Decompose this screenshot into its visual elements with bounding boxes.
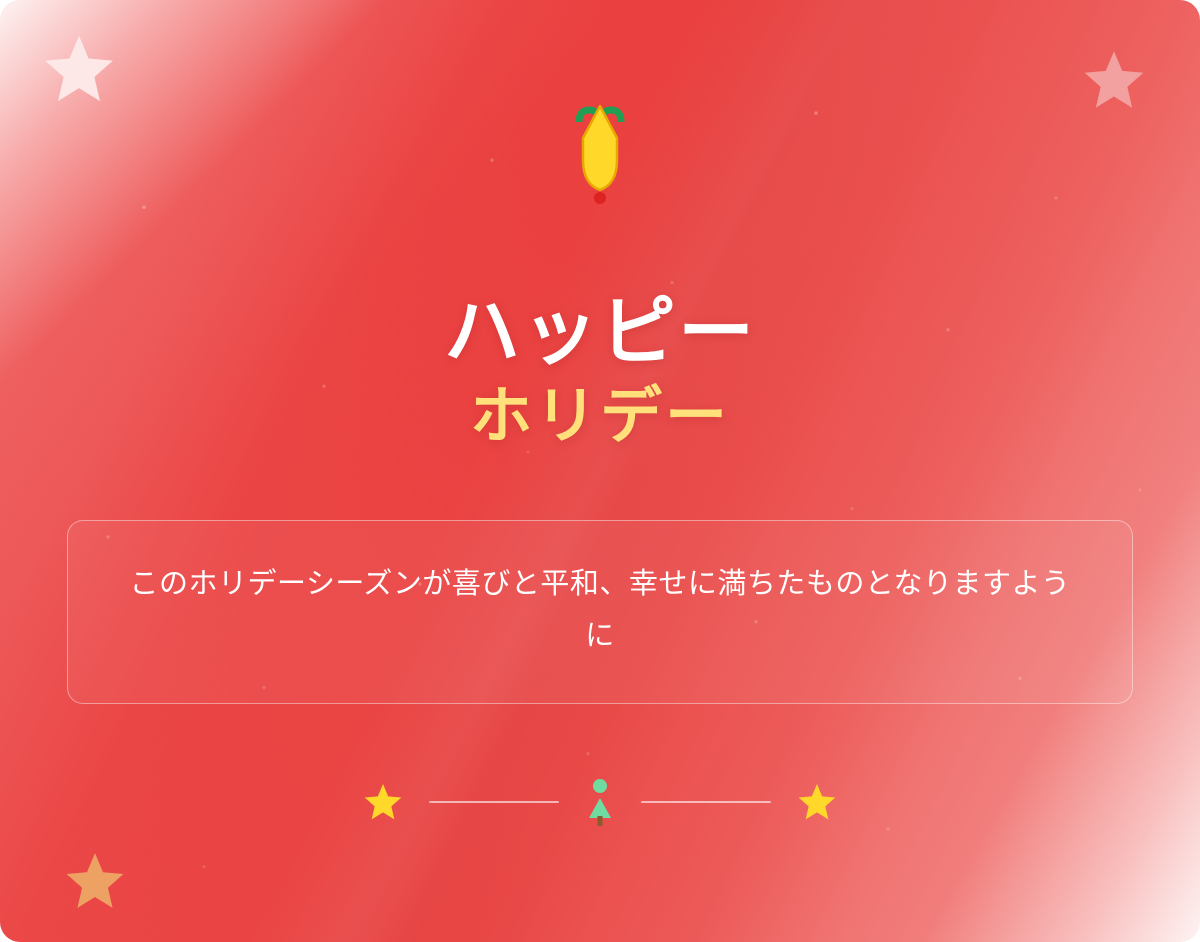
card-content: ハッピー ホリデー このホリデーシーズンが喜びと平和、幸せに満ちたものとなります… — [0, 0, 1200, 942]
page-subtitle: ホリデー — [0, 380, 1200, 454]
star-icon — [363, 782, 403, 822]
message-text: このホリデーシーズンが喜びと平和、幸せに満ちたものとなりますように — [124, 559, 1076, 662]
holiday-greeting-card: ハッピー ホリデー このホリデーシーズンが喜びと平和、幸せに満ちたものとなります… — [0, 0, 1200, 942]
message-box: このホリデーシーズンが喜びと平和、幸せに満ちたものとなりますように — [67, 520, 1133, 703]
headline-block: ハッピー ホリデー — [0, 292, 1200, 454]
footer-decoration-row — [300, 778, 900, 826]
horizontal-rule — [429, 801, 559, 803]
horizontal-rule — [641, 801, 771, 803]
tree-icon — [585, 778, 615, 826]
star-icon — [797, 782, 837, 822]
bell-icon — [555, 104, 645, 204]
page-title: ハッピー — [0, 292, 1200, 374]
